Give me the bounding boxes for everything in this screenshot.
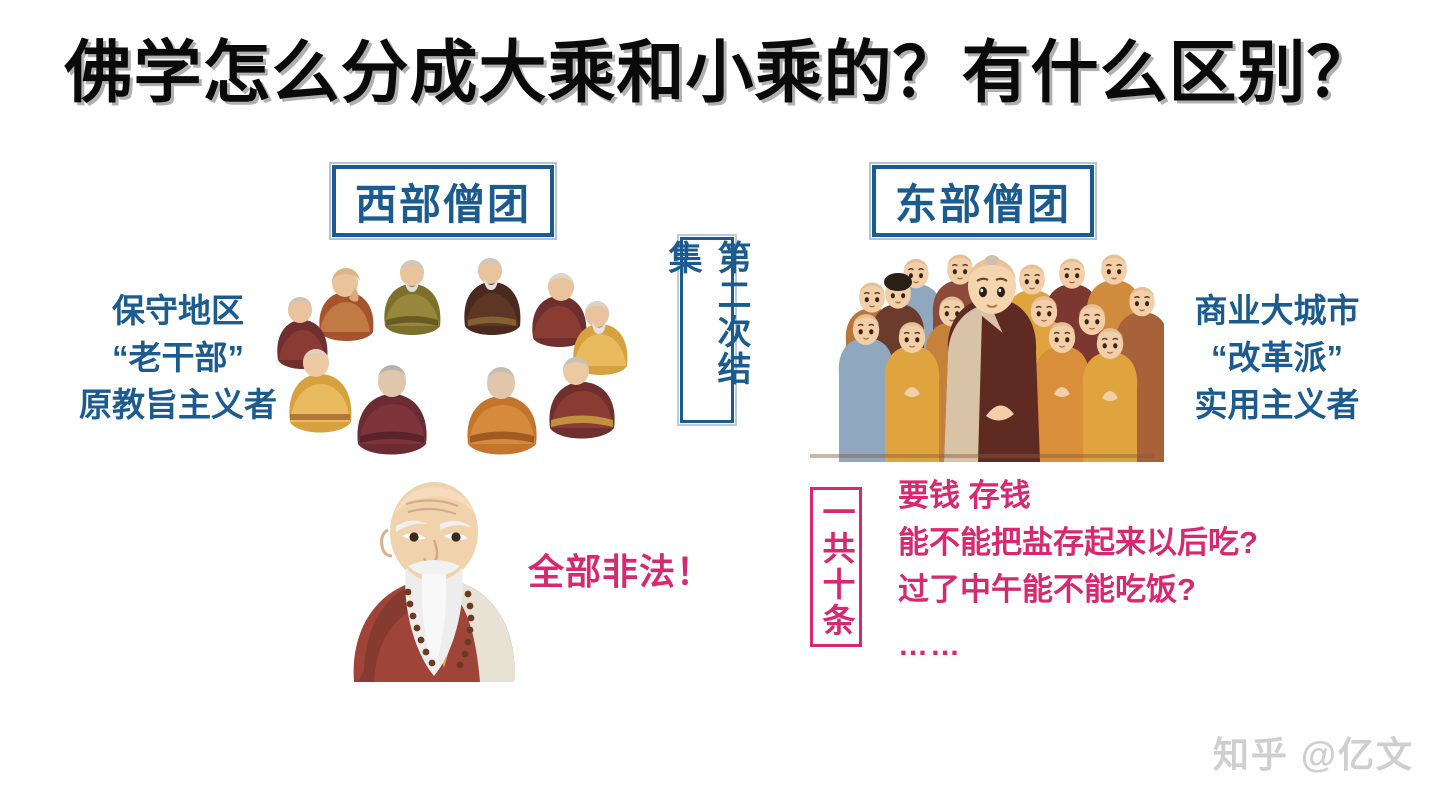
stamp-west-sangha: 西部僧团 xyxy=(332,165,554,237)
dispute-line-1: 要钱 存钱 xyxy=(898,472,1258,519)
stamp-ten-items: 一共十条 xyxy=(810,487,862,647)
disputes-spacer xyxy=(898,613,1258,623)
stamp-east-sangha-label: 东部僧团 xyxy=(895,171,1071,232)
left-description-line-3: 原教旨主义者 xyxy=(58,382,298,429)
right-description-line-1: 商业大城市 xyxy=(1152,288,1402,335)
page-title: 佛学怎么分成大乘和小乘的？有什么区别？ xyxy=(0,38,1440,109)
right-description-line-3: 实用主义者 xyxy=(1152,382,1402,429)
stamp-second-council-label: 第二次结集 xyxy=(658,240,756,420)
right-description-block: 商业大城市 “改革派” 实用主义者 xyxy=(1152,288,1402,429)
slide-canvas: 佛学怎么分成大乘和小乘的？有什么区别？ 西部僧团 东部僧团 第二次结集 一共十条… xyxy=(0,0,1440,810)
monk-crowd-illustration xyxy=(800,250,1164,462)
disputes-block: 要钱 存钱 能不能把盐存起来以后吃? 过了中午能不能吃饭? …… xyxy=(898,472,1258,669)
watermark: 知乎 @亿文 xyxy=(1213,726,1414,778)
dispute-line-4: …… xyxy=(898,623,1258,669)
verdict-text: 全部非法！ xyxy=(528,543,713,595)
stamp-ten-items-label: 一共十条 xyxy=(812,495,860,639)
elder-monk-illustration xyxy=(322,470,542,682)
stamp-west-sangha-label: 西部僧团 xyxy=(355,171,531,232)
left-description-line-1: 保守地区 xyxy=(58,288,298,335)
dispute-line-3: 过了中午能不能吃饭? xyxy=(898,566,1258,613)
stamp-east-sangha: 东部僧团 xyxy=(872,165,1094,237)
stamp-second-council: 第二次结集 xyxy=(680,237,734,423)
right-description-line-2: “改革派” xyxy=(1152,335,1402,382)
dispute-line-2: 能不能把盐存起来以后吃? xyxy=(898,519,1258,566)
left-description-line-2: “老干部” xyxy=(58,335,298,382)
monk-circle-illustration xyxy=(276,252,632,458)
left-description-block: 保守地区 “老干部” 原教旨主义者 xyxy=(58,288,298,429)
